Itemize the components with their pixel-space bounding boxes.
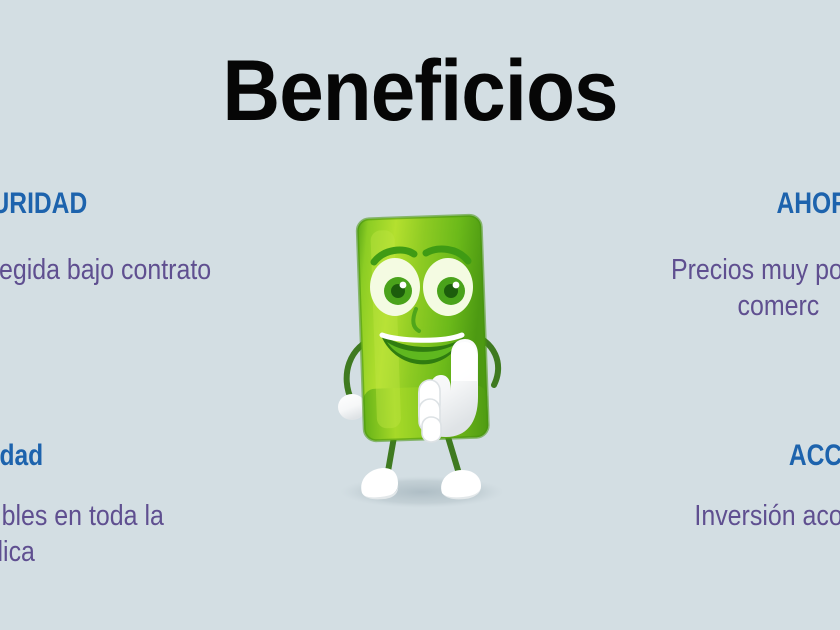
benefit-seguridad-body: protegida bajo contrato <box>0 252 211 288</box>
benefit-accesible-heading: ACCESIB <box>704 440 840 472</box>
money-bill-character <box>318 205 528 515</box>
benefit-diversidad-body-line: epublica <box>0 534 164 570</box>
benefit-ahorro-body-line: comerc <box>671 288 840 324</box>
benefit-ahorro: AHORRO Precios muy por de comerc <box>636 188 840 324</box>
benefit-ahorro-heading: AHORRO <box>681 188 840 220</box>
slide-canvas: Beneficios <box>0 0 840 630</box>
page-title: Beneficios <box>29 48 810 134</box>
benefit-diversidad-heading: versidad <box>0 440 154 472</box>
benefit-seguridad-body-line: protegida bajo contrato <box>0 252 211 288</box>
mascot-shoe-right <box>441 470 481 499</box>
benefit-accesible: ACCESIB Inversión acorde a <box>661 440 840 534</box>
benefit-seguridad-heading: EGURIDAD <box>0 188 199 220</box>
benefit-diversidad: versidad sponibles en toda la epublica <box>0 440 200 570</box>
benefit-ahorro-body-line: Precios muy por de <box>671 252 840 288</box>
benefit-diversidad-body-line: sponibles en toda la <box>0 498 164 534</box>
benefit-diversidad-body: sponibles en toda la epublica <box>0 498 164 570</box>
mascot-eye-right <box>423 258 473 316</box>
benefit-ahorro-body: Precios muy por de comerc <box>671 252 840 324</box>
benefit-seguridad: EGURIDAD protegida bajo contrato <box>0 188 253 288</box>
benefit-accesible-body: Inversión acorde a <box>695 498 840 534</box>
benefit-accesible-body-line: Inversión acorde a <box>695 498 840 534</box>
mascot-shoe-left <box>361 468 398 499</box>
mascot-eye-left <box>370 258 420 316</box>
